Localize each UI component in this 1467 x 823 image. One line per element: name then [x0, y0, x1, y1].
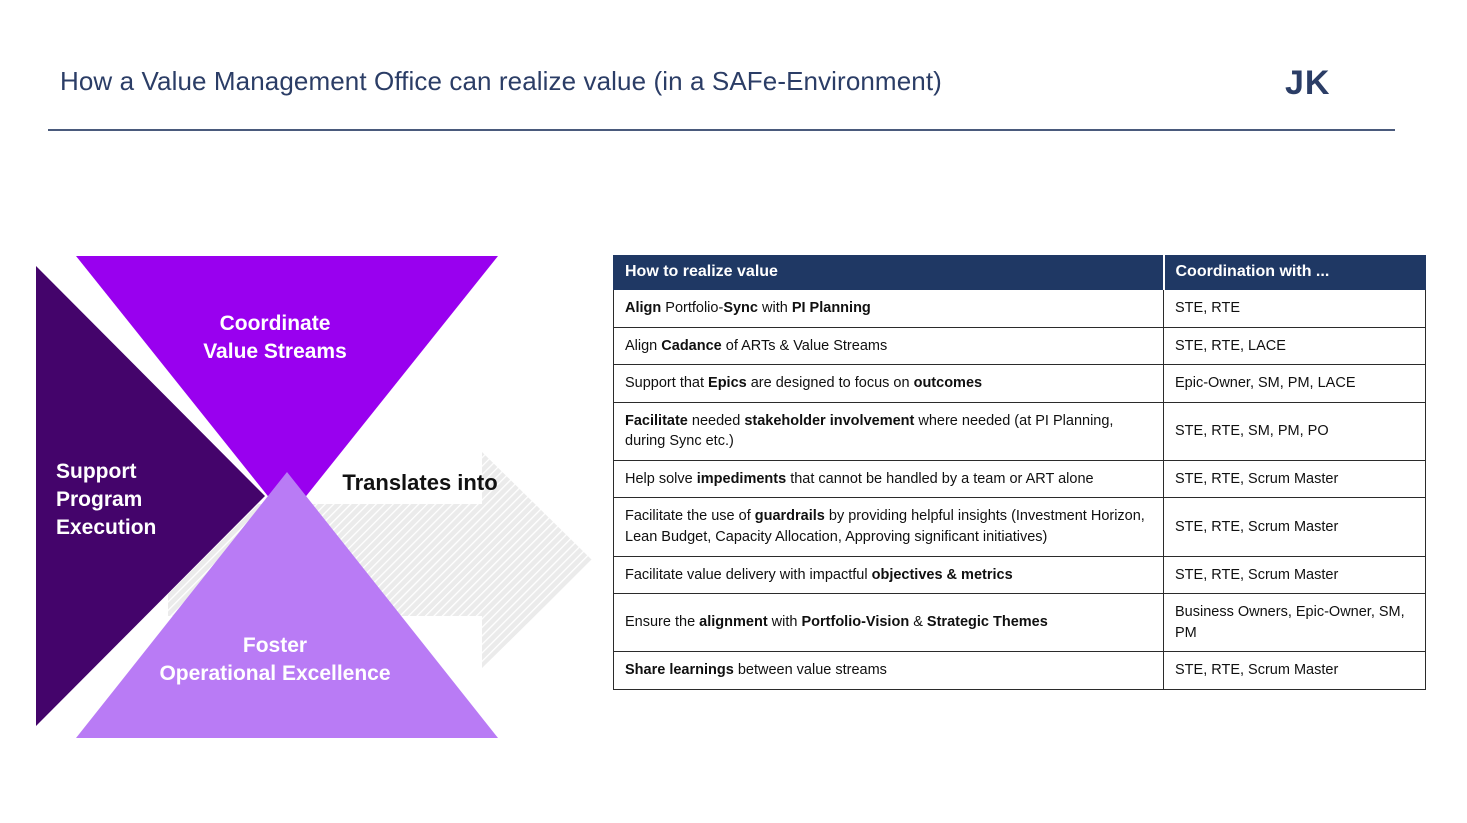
table-head: How to realize value Coordination with .…: [614, 256, 1426, 290]
cell-how-to-realize-value: Ensure the alignment with Portfolio-Visi…: [614, 594, 1164, 652]
table-row: Align Cadance of ARTs & Value StreamsSTE…: [614, 327, 1426, 365]
cell-coordination-with: STE, RTE: [1164, 290, 1426, 328]
cell-how-to-realize-value: Facilitate needed stakeholder involvemen…: [614, 402, 1164, 460]
header-divider: [48, 129, 1395, 131]
table-row: Support that Epics are designed to focus…: [614, 365, 1426, 403]
diagram-svg: [20, 240, 620, 760]
cell-how-to-realize-value: Share learnings between value streams: [614, 652, 1164, 690]
table-row: Align Portfolio-Sync with PI PlanningSTE…: [614, 290, 1426, 328]
cell-how-to-realize-value: Support that Epics are designed to focus…: [614, 365, 1164, 403]
cell-how-to-realize-value: Help solve impediments that cannot be ha…: [614, 460, 1164, 498]
slide-header: How a Value Management Office can realiz…: [0, 0, 1467, 140]
cell-coordination-with: STE, RTE, Scrum Master: [1164, 652, 1426, 690]
realize-value-table: How to realize value Coordination with .…: [613, 255, 1426, 690]
cell-coordination-with: Epic-Owner, SM, PM, LACE: [1164, 365, 1426, 403]
cell-how-to-realize-value: Facilitate the use of guardrails by prov…: [614, 498, 1164, 556]
column-header-how-to-realize-value: How to realize value: [614, 256, 1164, 290]
table-row: Facilitate the use of guardrails by prov…: [614, 498, 1426, 556]
page-title: How a Value Management Office can realiz…: [60, 66, 942, 97]
brand-logo: JK: [1285, 64, 1330, 103]
cell-coordination-with: Business Owners, Epic-Owner, SM, PM: [1164, 594, 1426, 652]
cell-how-to-realize-value: Align Portfolio-Sync with PI Planning: [614, 290, 1164, 328]
table-row: Help solve impediments that cannot be ha…: [614, 460, 1426, 498]
table-row: Share learnings between value streamsSTE…: [614, 652, 1426, 690]
table-row: Facilitate value delivery with impactful…: [614, 556, 1426, 594]
table-row: Facilitate needed stakeholder involvemen…: [614, 402, 1426, 460]
table-body: Align Portfolio-Sync with PI PlanningSTE…: [614, 290, 1426, 690]
cell-coordination-with: STE, RTE, SM, PM, PO: [1164, 402, 1426, 460]
table-row: Ensure the alignment with Portfolio-Visi…: [614, 594, 1426, 652]
cell-coordination-with: STE, RTE, Scrum Master: [1164, 556, 1426, 594]
column-header-coordination-with: Coordination with ...: [1164, 256, 1426, 290]
cell-how-to-realize-value: Align Cadance of ARTs & Value Streams: [614, 327, 1164, 365]
table-header-row: How to realize value Coordination with .…: [614, 256, 1426, 290]
cell-how-to-realize-value: Facilitate value delivery with impactful…: [614, 556, 1164, 594]
cell-coordination-with: STE, RTE, Scrum Master: [1164, 460, 1426, 498]
cell-coordination-with: STE, RTE, LACE: [1164, 327, 1426, 365]
value-triangle-diagram: Coordinate Value Streams Support Program…: [20, 240, 620, 760]
cell-coordination-with: STE, RTE, Scrum Master: [1164, 498, 1426, 556]
